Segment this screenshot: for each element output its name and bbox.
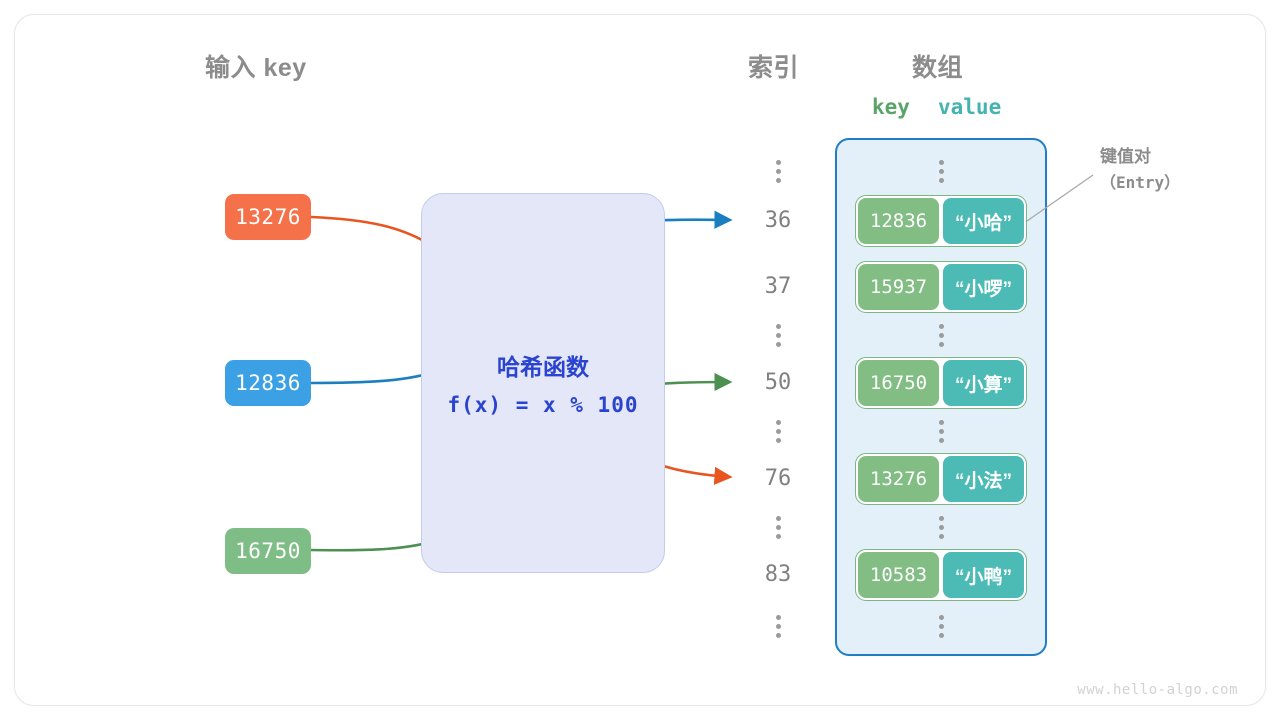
hash-function-title: 哈希函数 (421, 348, 665, 382)
entry-key: 15937 (858, 264, 939, 310)
column-label-value: value (938, 95, 1001, 119)
array-entry-12836[interactable]: 12836 “小哈” (855, 195, 1027, 247)
diagram-canvas: 输入 key 索引 数组 key value 13276 12836 16750… (0, 0, 1280, 720)
array-ellipsis-1 (903, 322, 979, 348)
input-key-box-16750[interactable]: 16750 (225, 528, 311, 574)
entry-key: 10583 (858, 552, 939, 598)
annotation-line-1: 键值对 (1100, 144, 1180, 170)
array-entry-16750[interactable]: 16750 “小算” (855, 357, 1027, 409)
annotation-line-2: （Entry） (1100, 170, 1180, 196)
array-ellipsis-0 (903, 158, 979, 184)
watermark: www.hello-algo.com (1077, 682, 1238, 698)
array-entry-15937[interactable]: 15937 “小啰” (855, 261, 1027, 313)
entry-key: 16750 (858, 360, 939, 406)
array-ellipsis-2 (903, 418, 979, 444)
array-ellipsis-3 (903, 514, 979, 540)
input-key-box-13276[interactable]: 13276 (225, 194, 311, 240)
index-ellipsis-2 (740, 418, 816, 444)
array-ellipsis-4 (903, 613, 979, 639)
column-label-key: key (872, 95, 910, 119)
entry-value: “小算” (943, 360, 1024, 406)
entry-value: “小法” (943, 456, 1024, 502)
annotation-entry: 键值对 （Entry） (1100, 144, 1180, 196)
index-value-76: 76 (740, 466, 816, 491)
index-value-36: 36 (740, 208, 816, 233)
hash-function-box (421, 193, 665, 573)
entry-key: 13276 (858, 456, 939, 502)
array-entry-13276[interactable]: 13276 “小法” (855, 453, 1027, 505)
heading-array: 数组 (912, 48, 963, 84)
heading-input-key: 输入 key (205, 48, 307, 84)
input-key-box-12836[interactable]: 12836 (225, 360, 311, 406)
index-ellipsis-3 (740, 514, 816, 540)
entry-value: “小鸭” (943, 552, 1024, 598)
index-ellipsis-1 (740, 322, 816, 348)
array-entry-10583[interactable]: 10583 “小鸭” (855, 549, 1027, 601)
entry-value: “小啰” (943, 264, 1024, 310)
index-ellipsis-4 (740, 613, 816, 639)
index-value-83: 83 (740, 562, 816, 587)
heading-index: 索引 (748, 48, 799, 84)
index-value-37: 37 (740, 274, 816, 299)
entry-value: “小哈” (943, 198, 1024, 244)
index-value-50: 50 (740, 370, 816, 395)
entry-key: 12836 (858, 198, 939, 244)
hash-function-formula: f(x) = x % 100 (421, 393, 665, 417)
index-ellipsis-0 (740, 158, 816, 184)
